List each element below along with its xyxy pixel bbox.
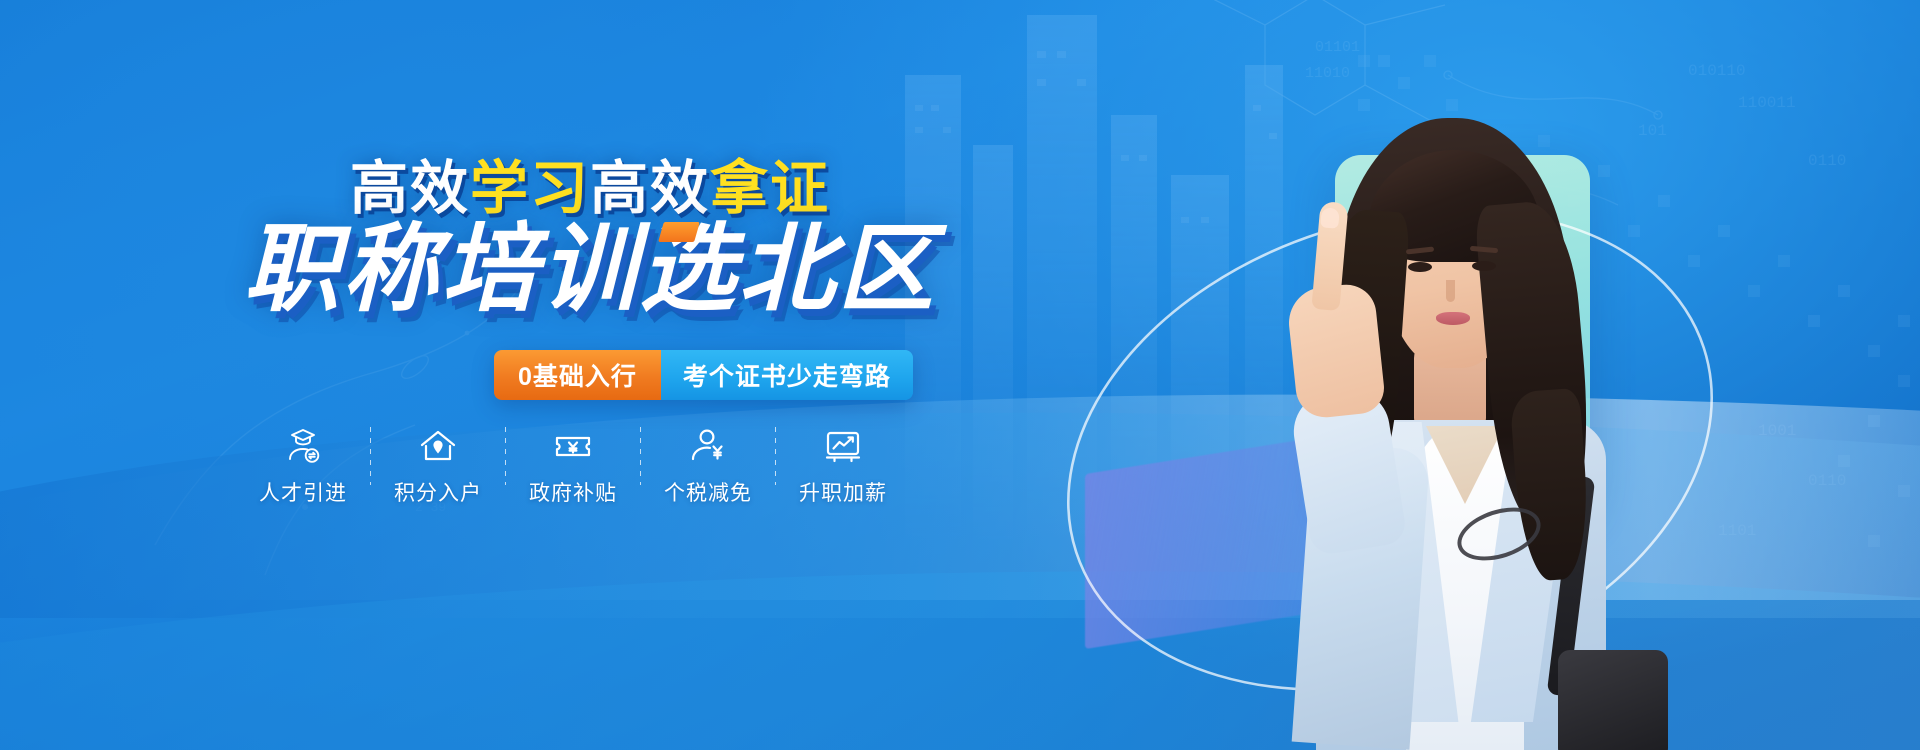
headline-main: 职称培训选北区 xyxy=(0,222,1180,318)
growth-chart-icon xyxy=(822,425,864,467)
svg-text:0110: 0110 xyxy=(1808,152,1846,170)
fingernail xyxy=(1320,207,1340,228)
feature-item-tax[interactable]: 个税减免 xyxy=(641,425,775,507)
feature-label: 人才引进 xyxy=(259,477,347,507)
svg-text:01101: 01101 xyxy=(1315,39,1360,56)
headline-seg-4: 拿证 xyxy=(710,156,830,221)
feature-item-subsidy[interactable]: 政府补贴 xyxy=(506,425,640,507)
tagline-badge: 0基础入行 考个证书少走弯路 xyxy=(494,350,913,400)
feature-label: 政府补贴 xyxy=(529,477,617,507)
handbag xyxy=(1558,650,1668,750)
headline-seg-2: 学习 xyxy=(470,156,590,221)
orange-accent-flag xyxy=(658,222,700,242)
svg-text:010110: 010110 xyxy=(1688,62,1746,80)
eye-right xyxy=(1472,261,1496,271)
feature-label: 个税减免 xyxy=(664,477,752,507)
graduate-person-icon xyxy=(282,425,324,467)
person-yuan-icon xyxy=(687,425,729,467)
svg-text:0110: 0110 xyxy=(1808,472,1846,490)
feature-item-promotion[interactable]: 升职加薪 xyxy=(776,425,910,507)
feature-label: 升职加薪 xyxy=(799,477,887,507)
badge-left-label: 0基础入行 xyxy=(494,350,661,400)
feature-item-residency[interactable]: 积分入户 xyxy=(371,425,505,507)
instructor-photo xyxy=(1230,90,1700,750)
eye-left xyxy=(1408,262,1432,272)
feature-list: 人才引进 积分入户 xyxy=(236,425,910,507)
voucher-yuan-icon xyxy=(552,425,594,467)
promo-banner: 2 39 xyxy=(0,0,1920,750)
headline-seg-1: 高效 xyxy=(350,156,470,221)
feature-label: 积分入户 xyxy=(394,477,482,507)
svg-text:1001: 1001 xyxy=(1758,422,1796,440)
house-pin-icon xyxy=(417,425,459,467)
feature-item-talent[interactable]: 人才引进 xyxy=(236,425,370,507)
nose xyxy=(1446,280,1455,302)
badge-right-label: 考个证书少走弯路 xyxy=(661,350,913,400)
headline-subtitle: 高效学习高效拿证 xyxy=(0,160,1180,218)
svg-text:110011: 110011 xyxy=(1738,94,1796,112)
svg-text:11010: 11010 xyxy=(1305,65,1350,82)
banner-copy: 高效学习高效拿证 职称培训选北区 0基础入行 考个证书少走弯路 人才引 xyxy=(0,0,1180,750)
mouth xyxy=(1436,312,1470,325)
svg-text:1101: 1101 xyxy=(1718,522,1756,540)
headline-seg-3: 高效 xyxy=(590,156,710,221)
